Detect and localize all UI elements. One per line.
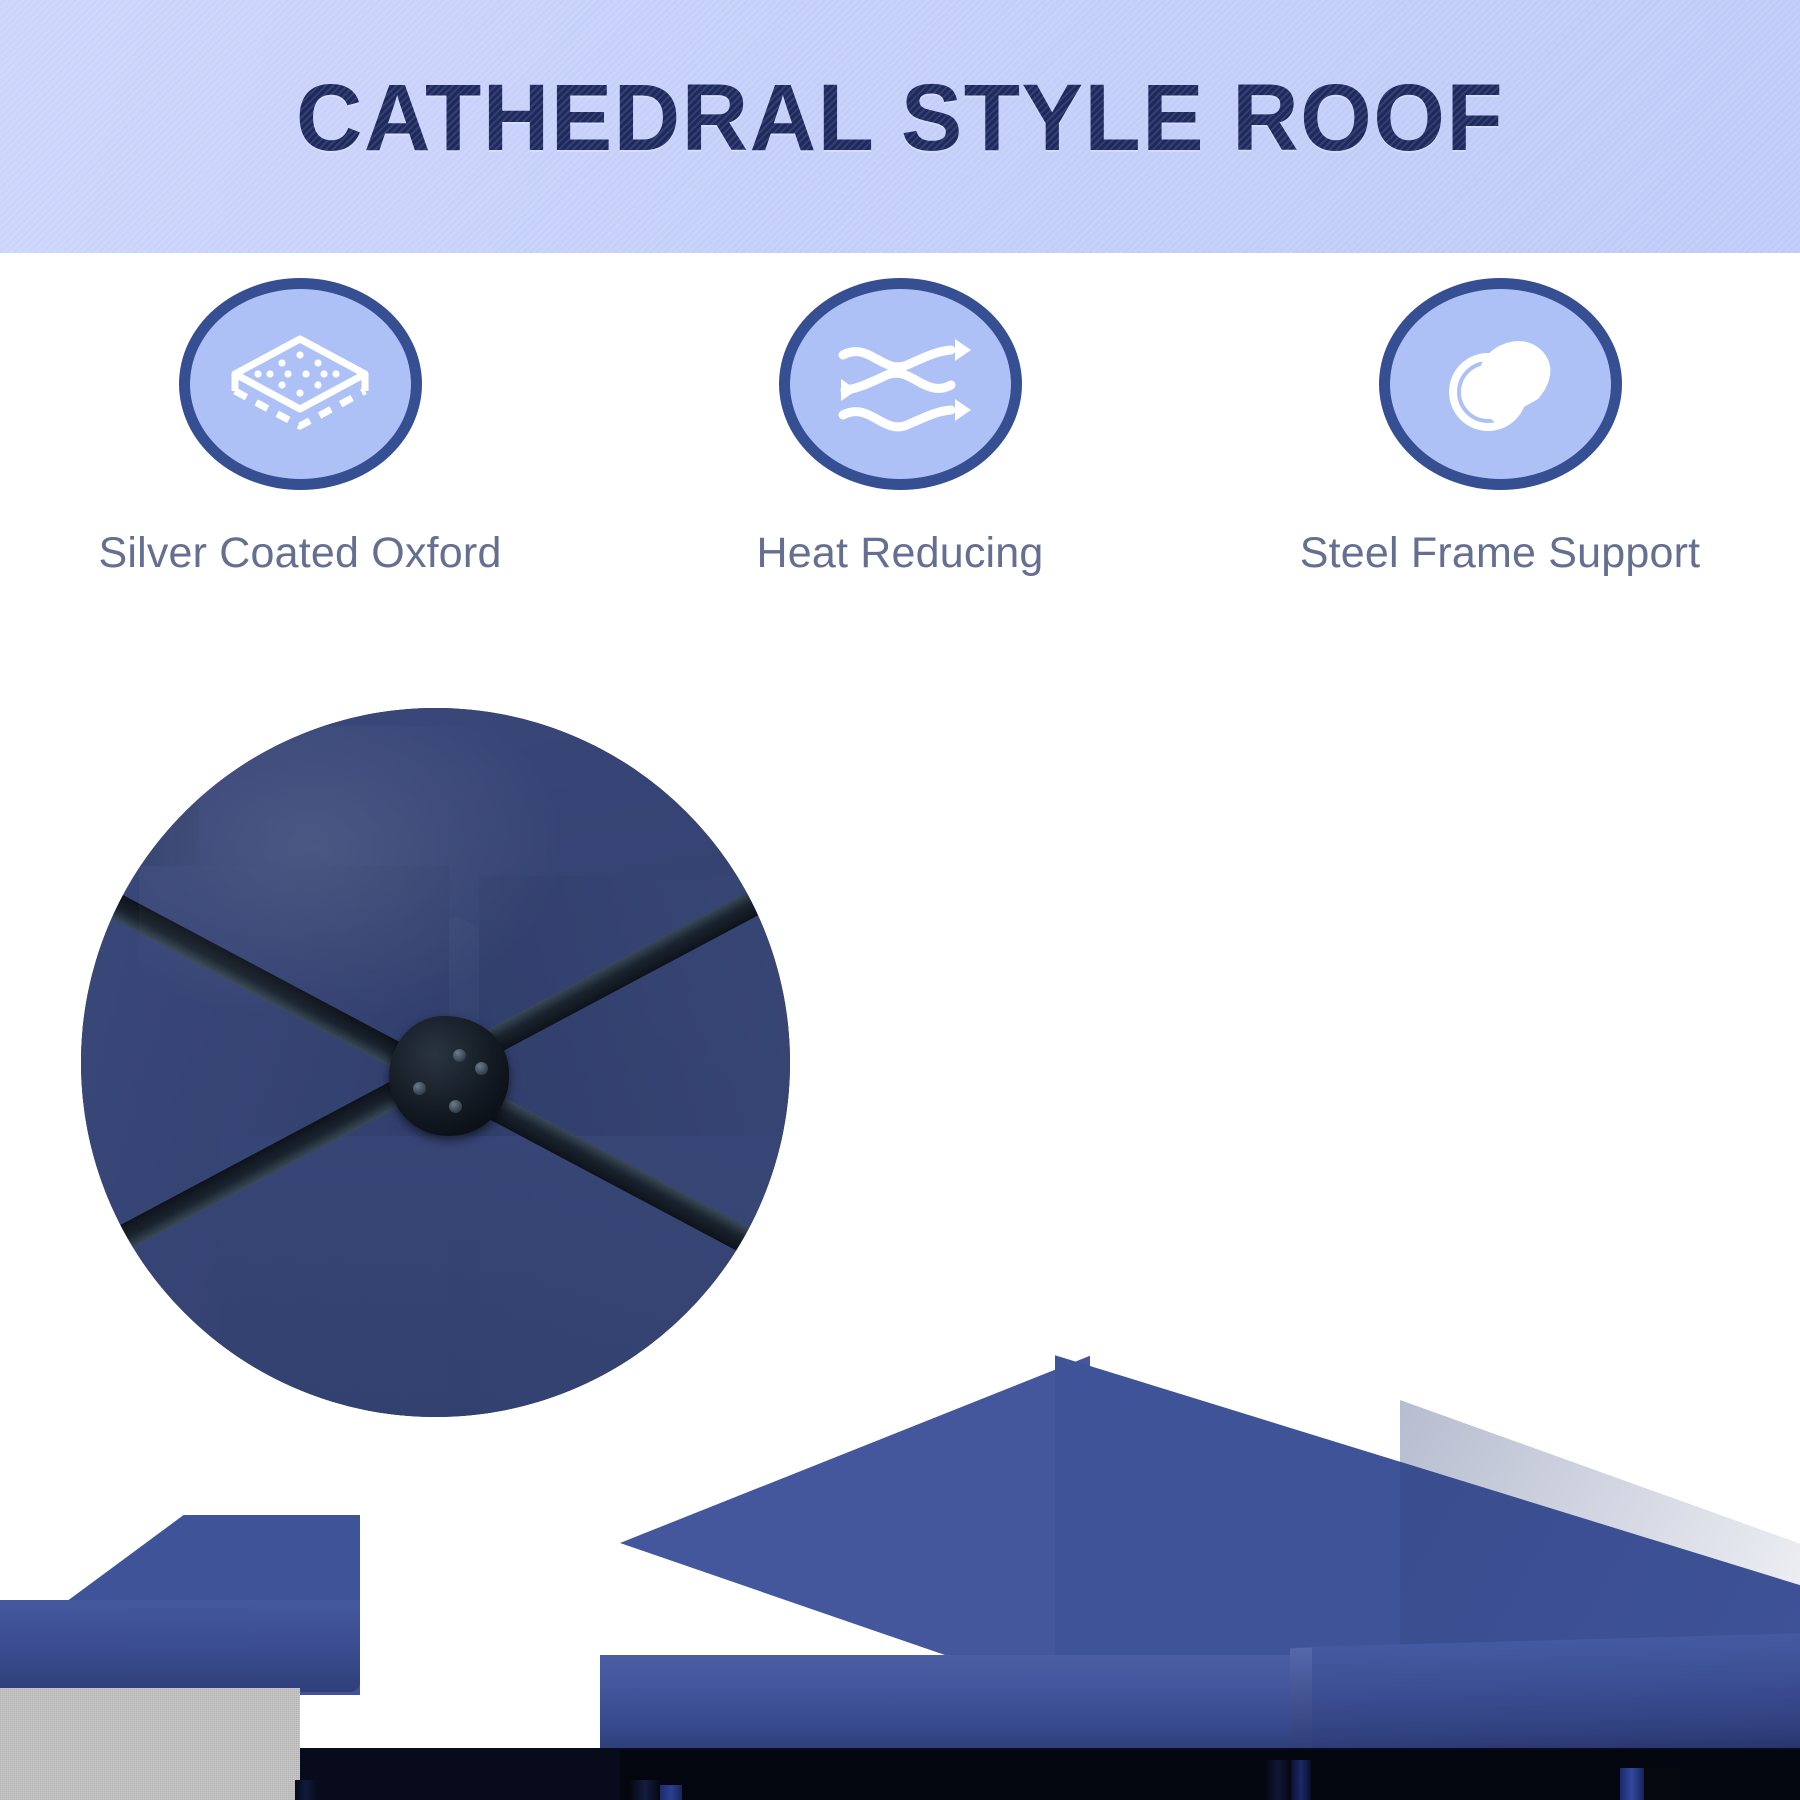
product-photo bbox=[0, 600, 1800, 1800]
gazebo-frame-post bbox=[660, 1785, 682, 1800]
detail-zoom-inset bbox=[68, 695, 803, 1430]
feature-list: Silver Coated Oxford H bbox=[0, 278, 1800, 578]
canopy-quadrant bbox=[219, 1136, 779, 1430]
gazebo-valance-seam bbox=[1290, 1648, 1312, 1761]
feature-item-steel-frame-support: Steel Frame Support bbox=[1200, 278, 1800, 578]
steel-frame-hub bbox=[389, 1016, 509, 1136]
layered-fabric-icon bbox=[225, 319, 375, 449]
feature-icon-badge bbox=[779, 278, 1022, 490]
feature-label: Steel Frame Support bbox=[1300, 529, 1701, 578]
gazebo-valance-left bbox=[600, 1655, 1300, 1755]
feature-icon-badge bbox=[1379, 278, 1622, 490]
hub-bolt bbox=[449, 1100, 462, 1113]
feature-label: Silver Coated Oxford bbox=[98, 529, 501, 578]
feature-item-silver-coated-oxford: Silver Coated Oxford bbox=[0, 278, 600, 578]
hub-bolt bbox=[475, 1062, 488, 1075]
feature-label: Heat Reducing bbox=[756, 529, 1043, 578]
gazebo-frame-post bbox=[630, 1780, 660, 1800]
gazebo-frame-post bbox=[1291, 1760, 1311, 1800]
feature-item-heat-reducing: Heat Reducing bbox=[600, 278, 1200, 578]
hub-bolt bbox=[413, 1082, 426, 1095]
airflow-waves-icon bbox=[825, 319, 975, 449]
steel-tube-icon bbox=[1430, 319, 1570, 449]
canopy-underside bbox=[79, 706, 792, 1419]
gazebo-frame-post bbox=[1265, 1760, 1291, 1800]
mesh-netting-panel bbox=[0, 1688, 300, 1800]
hub-bolt bbox=[453, 1049, 466, 1062]
gazebo-valance-right bbox=[1295, 1633, 1800, 1763]
gazebo-frame-post bbox=[1644, 1768, 1680, 1800]
feature-icon-badge bbox=[179, 278, 422, 490]
gazebo-frame-post bbox=[1620, 1768, 1644, 1800]
page-title: CATHEDRAL STYLE ROOF bbox=[27, 64, 1773, 173]
canopy-glare bbox=[139, 726, 569, 1026]
gazebo-valance-far-left bbox=[0, 1600, 360, 1692]
gazebo-frame-post bbox=[295, 1780, 317, 1800]
header-banner: CATHEDRAL STYLE ROOF bbox=[0, 0, 1800, 253]
